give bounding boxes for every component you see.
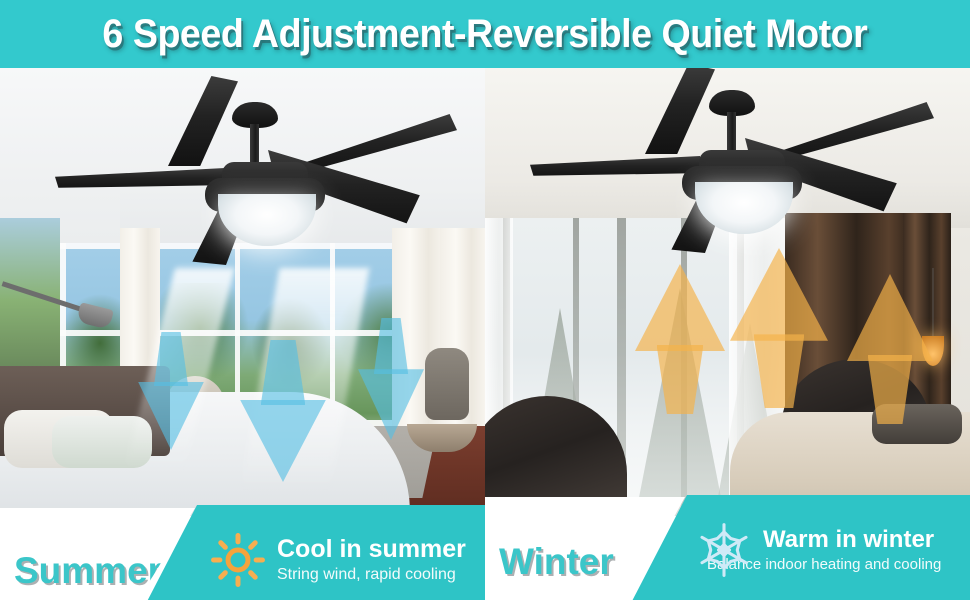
summer-feature-subtitle: String wind, rapid cooling: [277, 566, 466, 584]
arrow-head: [240, 400, 326, 482]
fan-blade: [168, 76, 238, 166]
summer-feature-title: Cool in summer: [277, 536, 466, 562]
page-title: 6 Speed Adjustment-Reversible Quiet Moto…: [103, 12, 868, 57]
bottom-feature-bar: Cool in summer String wind, rapid coolin…: [0, 490, 970, 600]
fan-blade: [55, 168, 225, 190]
ceiling-fan: [0, 68, 485, 308]
arrow-head: [847, 274, 933, 361]
arrow-shaft: [374, 318, 408, 374]
airflow-arrow-down: [358, 318, 424, 440]
fan-blade: [530, 156, 700, 178]
fan-blade: [645, 68, 715, 154]
product-feature-image: 6 Speed Adjustment-Reversible Quiet Moto…: [0, 0, 970, 600]
winter-photo: [485, 68, 970, 516]
airflow-arrow-up: [730, 248, 828, 408]
arrow-shaft: [868, 355, 913, 424]
summer-photo: [0, 68, 485, 516]
summer-season-label: Summer: [0, 550, 162, 592]
summer-feature-half: Cool in summer String wind, rapid coolin…: [0, 490, 485, 600]
winter-room-scene: [485, 68, 970, 516]
ceiling-fan: [485, 68, 970, 296]
arrow-shaft: [154, 332, 188, 386]
arrow-shaft: [754, 334, 805, 408]
airflow-arrow-down: [240, 340, 326, 482]
winter-feature-title: Warm in winter: [763, 527, 941, 552]
winter-feature-text: Warm in winter Balance indoor heating an…: [763, 527, 941, 573]
winter-feature-half: Warm in winter Balance indoor heating an…: [485, 490, 970, 600]
airflow-arrow-up: [847, 274, 933, 424]
summer-room-scene: [0, 68, 485, 516]
snowflake-icon: [695, 521, 753, 579]
arrow-head: [138, 382, 204, 450]
arrow-head: [358, 369, 424, 440]
airflow-arrow-up: [635, 264, 725, 414]
arrow-head: [635, 264, 725, 351]
arrow-shaft: [261, 340, 306, 405]
photo-strip: [0, 68, 970, 516]
sun-icon: [209, 531, 267, 589]
headline-banner: 6 Speed Adjustment-Reversible Quiet Moto…: [0, 0, 970, 68]
arrow-shaft: [657, 345, 704, 414]
summer-feature-text: Cool in summer String wind, rapid coolin…: [277, 536, 466, 584]
winter-season-label: Winter: [485, 541, 614, 583]
arrow-head: [730, 248, 828, 341]
airflow-arrow-down: [138, 332, 204, 450]
floor-vase: [425, 348, 469, 420]
